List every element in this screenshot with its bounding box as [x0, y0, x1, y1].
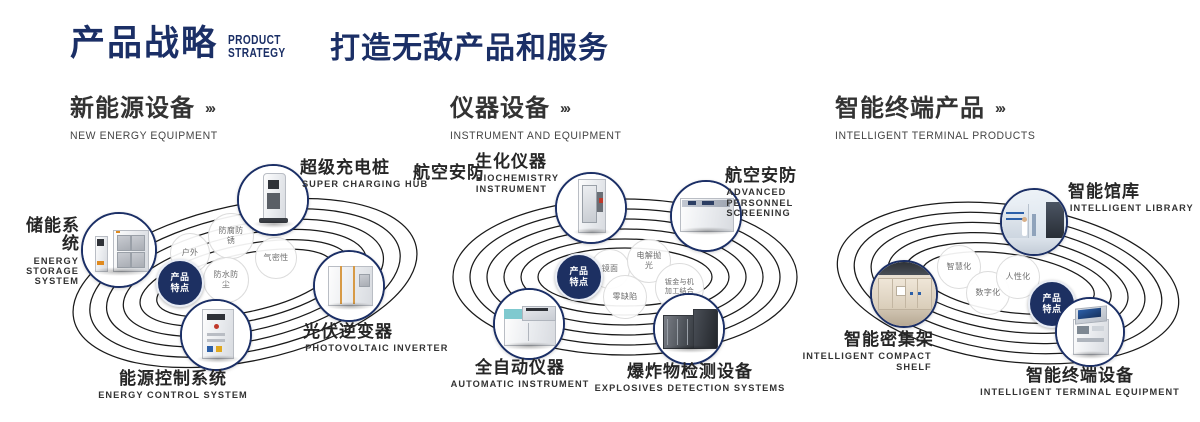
node-super-charging-hub[interactable]: [237, 164, 309, 236]
label-cn: 航空安防: [725, 167, 813, 185]
node-energy-control-system[interactable]: [180, 299, 252, 371]
page-subtitle: 打造无敌产品和服务: [330, 34, 609, 64]
badge-line2: 特点: [569, 277, 588, 288]
feature-bubble-3: 气密性: [255, 237, 297, 279]
label-advanced-personnel-screening: 航空安防 ADVANCED PERSONNEL SCREENING: [725, 167, 813, 219]
label-en: EXPLOSIVES DETECTION SYSTEMS: [588, 384, 792, 394]
label-energy-control-system: 能源控制系统 ENERGY CONTROL SYSTEM: [73, 370, 273, 402]
label-explosives-detection-systems: 爆炸物检测设备 EXPLOSIVES DETECTION SYSTEMS: [585, 363, 795, 395]
label-en: INTELLIGENT LIBRARY: [1070, 204, 1194, 214]
label-super-charging-hub: 超级充电桩 SUPER CHARGING HUB: [300, 159, 430, 191]
label-cn: 生化仪器: [475, 153, 547, 171]
chevron-triple-icon: ›››: [995, 101, 1004, 116]
section-title-cn-2: 智能终端产品›››: [835, 97, 1046, 121]
node-intelligent-library[interactable]: [1000, 188, 1068, 256]
label-cn: 智能馆库: [1068, 183, 1196, 201]
label-en: INTELLIGENT TERMINAL EQUIPMENT: [968, 388, 1191, 398]
page-title: 产品战略 PRODUCT STRATEGY: [70, 26, 302, 61]
section-header-instrument: 仪器设备››› INSTRUMENT AND EQUIPMENT: [450, 97, 630, 142]
section-title-en-0: NEW ENERGY EQUIPMENT: [70, 130, 218, 142]
section-header-new-energy: 新能源设备››› NEW ENERGY EQUIPMENT: [70, 97, 225, 142]
label-cn: 储能系统: [10, 217, 80, 254]
node-energy-storage-system[interactable]: [81, 212, 157, 288]
label-intelligent-library: 智能馆库 INTELLIGENT LIBRARY: [1068, 183, 1196, 215]
label-en: ADVANCED PERSONNEL SCREENING: [726, 188, 811, 219]
section-title-cn-0: 新能源设备›››: [70, 97, 225, 121]
badge-line2: 特点: [170, 283, 189, 294]
label-en: ENERGY STORAGE SYSTEM: [11, 257, 79, 288]
cluster-intelligent-terminal: 智慧化 数字化 人性化 产品 特点 智能馆库 INTELLIGE: [810, 155, 1200, 415]
label-biochemistry-instrument: 生化仪器 BIOCHEMISTRY INSTRUMENT: [475, 153, 547, 195]
cluster-instrument: 镜面 电解抛光 零缺陷 钣金与机加工结合 产品 特点 航空安防 生化仪器: [425, 155, 825, 415]
chevron-triple-icon: ›››: [560, 101, 569, 116]
node-automatic-instrument[interactable]: [493, 288, 565, 360]
label-cn: 智能密集架: [782, 331, 934, 349]
label-cn: 超级充电桩: [300, 159, 430, 177]
feature-bubble-2: 防水防尘: [203, 257, 249, 303]
node-biochemistry-instrument[interactable]: [555, 172, 627, 244]
node-photovoltaic-inverter[interactable]: [313, 250, 385, 322]
label-en: SUPER CHARGING HUB: [302, 180, 428, 190]
cluster-new-energy: 户外 防腐防锈 防水防尘 气密性 产品 特点: [55, 155, 455, 415]
label-en: INTELLIGENT COMPACT SHELF: [784, 352, 931, 373]
page-title-en: PRODUCT STRATEGY: [228, 33, 286, 59]
label-energy-storage-system: 储能系统 ENERGY STORAGE SYSTEM: [10, 217, 80, 287]
node-explosives-detection-systems[interactable]: [653, 293, 725, 365]
label-cn: 能源控制系统: [73, 370, 273, 388]
badge-line1: 产品: [170, 272, 189, 283]
page-title-en-line2: STRATEGY: [228, 46, 286, 59]
page-title-cn: 产品战略: [70, 26, 218, 61]
label-intelligent-terminal-equipment: 智能终端设备 INTELLIGENT TERMINAL EQUIPMENT: [965, 367, 1195, 399]
section-header-intelligent-terminal: 智能终端产品››› INTELLIGENT TERMINAL PRODUCTS: [835, 97, 1046, 142]
label-intelligent-compact-shelf: 智能密集架 INTELLIGENT COMPACT SHELF: [782, 331, 934, 373]
node-intelligent-terminal-equipment[interactable]: [1055, 297, 1125, 367]
section-title-en-1: INSTRUMENT AND EQUIPMENT: [450, 130, 621, 142]
chevron-triple-icon: ›››: [205, 101, 214, 116]
product-feature-badge: 产品 特点: [156, 259, 204, 307]
label-en: BIOCHEMISTRY INSTRUMENT: [476, 174, 536, 195]
badge-line1: 产品: [569, 266, 588, 277]
section-title-cn-1: 仪器设备›››: [450, 97, 630, 121]
node-intelligent-compact-shelf[interactable]: [870, 260, 938, 328]
poster-canvas: 产品战略 PRODUCT STRATEGY 打造无敌产品和服务 新能源设备›››…: [0, 0, 1200, 422]
label-en: ENERGY CONTROL SYSTEM: [76, 391, 270, 401]
section-title-en-2: INTELLIGENT TERMINAL PRODUCTS: [835, 130, 1035, 142]
label-cn: 智能终端设备: [965, 367, 1195, 385]
label-cn: 爆炸物检测设备: [585, 363, 795, 381]
feature-bubble-2: 零缺陷: [603, 275, 647, 319]
